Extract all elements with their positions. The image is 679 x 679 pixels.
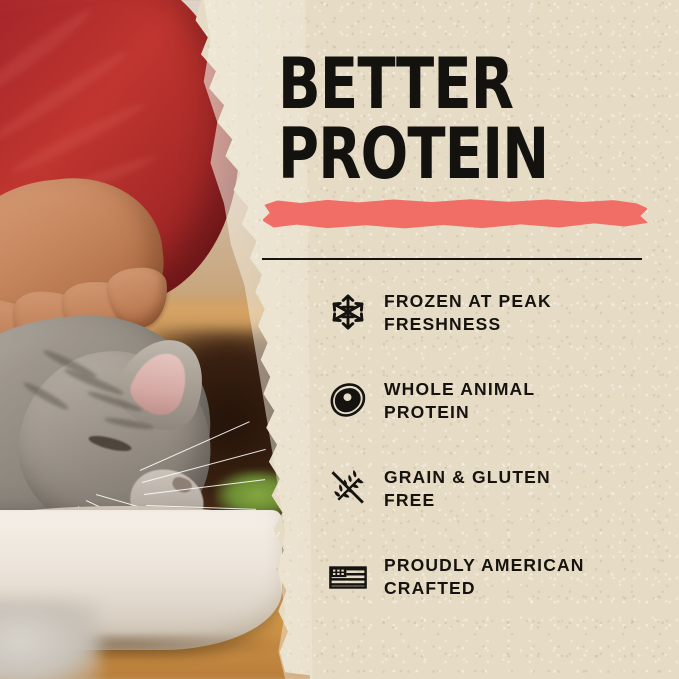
feature-list: FROZEN AT PEAK FRESHNESS WHOLE ANIMAL PR… [328,288,658,640]
product-feature-poster: BETTER PROTEIN [0,0,679,679]
headline-line-1: BETTER [278,52,582,116]
american-flag-icon [328,552,384,596]
headline-line-2: PROTEIN [278,122,582,186]
wheat-crossed-out-icon [328,464,384,508]
snowflake-icon [328,288,384,332]
foreground-blur [0,600,100,679]
feature-label: FROZEN AT PEAK FRESHNESS [384,288,552,336]
feature-item-grain-gluten-free: GRAIN & GLUTEN FREE [328,464,658,552]
feature-item-whole-animal-protein: WHOLE ANIMAL PROTEIN [328,376,658,464]
page-title: BETTER PROTEIN [278,52,658,187]
sleeve-fold [0,5,95,108]
feature-item-american-crafted: PROUDLY AMERICAN CRAFTED [328,552,658,640]
feature-label: PROUDLY AMERICAN CRAFTED [384,552,585,600]
feature-item-frozen: FROZEN AT PEAK FRESHNESS [328,288,658,376]
feature-label: WHOLE ANIMAL PROTEIN [384,376,535,424]
horizontal-divider [262,258,642,260]
meat-cut-icon [328,376,384,420]
feature-label: GRAIN & GLUTEN FREE [384,464,551,512]
